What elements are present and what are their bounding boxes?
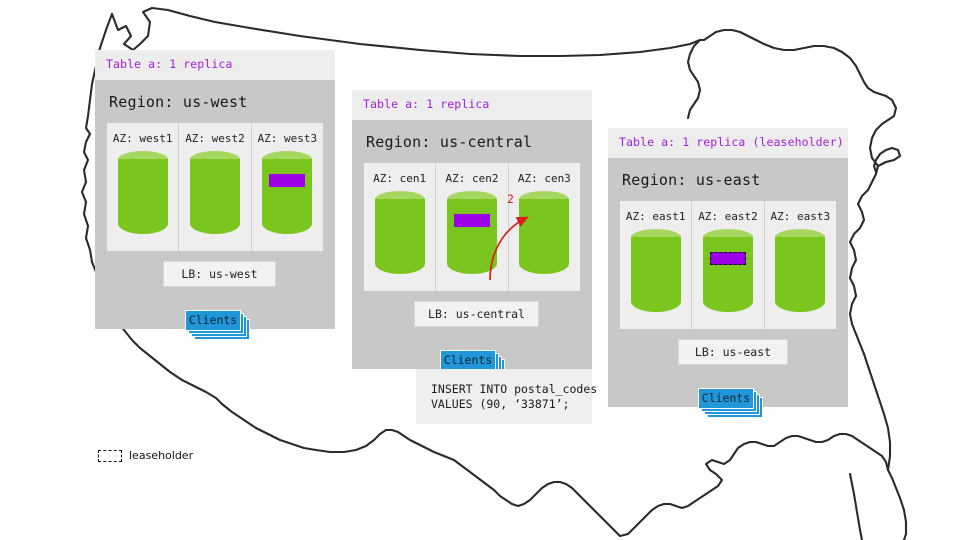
region-header-us-east: Table a: 1 replica (leaseholder) [608, 128, 848, 158]
az-cell-west3[interactable]: AZ: west3 [251, 123, 323, 251]
legend-leaseholder: leaseholder [98, 449, 193, 462]
load-balancer-label: LB: us-east [695, 345, 771, 359]
routing-arrow-label: 2 [507, 192, 514, 206]
az-cell-west2[interactable]: AZ: west2 [178, 123, 250, 251]
cylinder-body [118, 159, 168, 234]
clients-label: Clients [189, 313, 237, 327]
region-panel-us-east: Table a: 1 replica (leaseholder) Region:… [608, 128, 848, 407]
load-balancer-label: LB: us-west [181, 267, 257, 281]
region-header-us-central: Table a: 1 replica [352, 90, 592, 120]
clients-card-front[interactable]: Clients [185, 310, 241, 331]
az-label-east2: AZ: east2 [692, 210, 763, 223]
replica-marker-west3[interactable] [269, 174, 305, 187]
region-header-us-west: Table a: 1 replica [95, 50, 335, 80]
node-cylinder-east2[interactable] [703, 229, 753, 313]
az-label-west1: AZ: west1 [107, 132, 178, 145]
sql-statement-note: INSERT INTO postal_codes VALUES (90, ‘33… [416, 369, 592, 424]
region-body-us-east: Region: us-east AZ: east1 AZ: east2 [608, 158, 848, 407]
az-label-east1: AZ: east1 [620, 210, 691, 223]
clients-label: Clients [702, 391, 750, 405]
region-panel-us-central: Table a: 1 replica Region: us-central AZ… [352, 90, 592, 369]
node-cylinder-west3[interactable] [262, 151, 312, 235]
node-cylinder-west2[interactable] [190, 151, 240, 235]
region-title-us-central: Region: us-central [352, 120, 592, 163]
replica-marker-east2-leaseholder[interactable] [710, 252, 746, 265]
cylinder-body [519, 199, 569, 274]
az-label-west2: AZ: west2 [179, 132, 250, 145]
node-cylinder-cen3[interactable] [519, 191, 569, 275]
cylinder-body [775, 237, 825, 312]
cylinder-body [262, 159, 312, 234]
az-label-east3: AZ: east3 [765, 210, 836, 223]
region-title-us-east: Region: us-east [608, 158, 848, 201]
load-balancer-label: LB: us-central [428, 307, 525, 321]
load-balancer-us-central[interactable]: LB: us-central [414, 301, 539, 327]
replica-marker-cen2[interactable] [454, 214, 490, 227]
az-label-west3: AZ: west3 [252, 132, 323, 145]
az-label-cen3: AZ: cen3 [509, 172, 580, 185]
clients-card-front[interactable]: Clients [698, 388, 754, 409]
node-cylinder-west1[interactable] [118, 151, 168, 235]
cylinder-body [190, 159, 240, 234]
cylinder-body [375, 199, 425, 274]
az-cell-west1[interactable]: AZ: west1 [107, 123, 178, 251]
az-row-us-west: AZ: west1 AZ: west2 AZ: west3 [107, 123, 323, 251]
clients-stack-us-east[interactable]: Clients [698, 388, 768, 420]
clients-card-front[interactable]: Clients [440, 350, 496, 371]
az-cell-cen3[interactable]: AZ: cen3 [508, 163, 580, 291]
az-cell-cen2[interactable]: AZ: cen2 [435, 163, 507, 291]
region-title-us-west: Region: us-west [95, 80, 335, 123]
node-cylinder-cen1[interactable] [375, 191, 425, 275]
az-cell-cen1[interactable]: AZ: cen1 [364, 163, 435, 291]
node-cylinder-east1[interactable] [631, 229, 681, 313]
region-panel-us-west: Table a: 1 replica Region: us-west AZ: w… [95, 50, 335, 329]
clients-stack-us-west[interactable]: Clients [185, 310, 255, 342]
diagram-canvas: Table a: 1 replica Region: us-west AZ: w… [0, 0, 960, 540]
cylinder-body [703, 237, 753, 312]
region-body-us-central: Region: us-central AZ: cen1 AZ: cen2 [352, 120, 592, 369]
clients-label: Clients [444, 353, 492, 367]
load-balancer-us-east[interactable]: LB: us-east [678, 339, 788, 365]
node-cylinder-east3[interactable] [775, 229, 825, 313]
node-cylinder-cen2[interactable] [447, 191, 497, 275]
az-row-us-central: AZ: cen1 AZ: cen2 AZ: cen3 [364, 163, 580, 291]
load-balancer-us-west[interactable]: LB: us-west [163, 261, 276, 287]
region-body-us-west: Region: us-west AZ: west1 AZ: west2 [95, 80, 335, 329]
az-cell-east1[interactable]: AZ: east1 [620, 201, 691, 329]
leaseholder-swatch-icon [98, 450, 122, 462]
az-cell-east2[interactable]: AZ: east2 [691, 201, 763, 329]
az-label-cen2: AZ: cen2 [436, 172, 507, 185]
cylinder-body [631, 237, 681, 312]
az-label-cen1: AZ: cen1 [364, 172, 435, 185]
legend-label: leaseholder [129, 449, 193, 462]
az-row-us-east: AZ: east1 AZ: east2 AZ: east3 [620, 201, 836, 329]
cylinder-body [447, 199, 497, 274]
az-cell-east3[interactable]: AZ: east3 [764, 201, 836, 329]
